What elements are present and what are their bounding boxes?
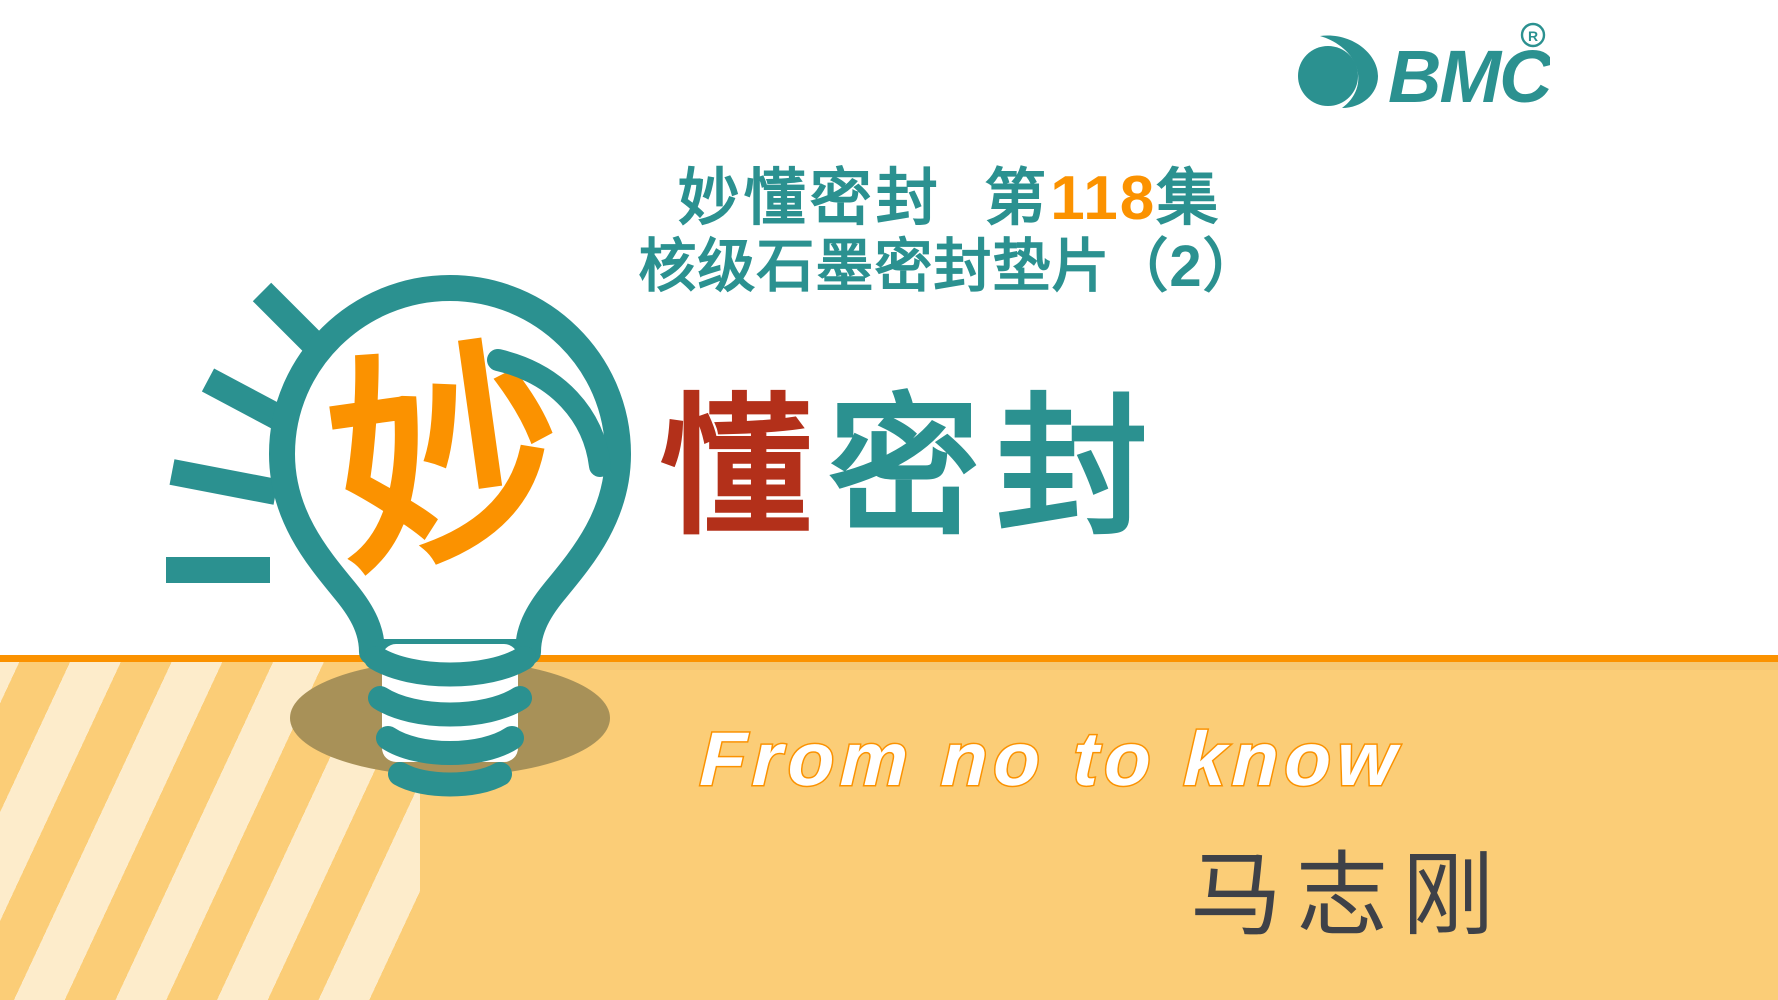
lightbulb-illustration: 妙 <box>150 240 730 820</box>
episode-number: 118 <box>1050 164 1156 233</box>
bmc-leaf-circle-icon <box>1298 36 1378 108</box>
episode-prefix: 第 <box>984 164 1050 233</box>
heading-line-1: 妙懂密封 第118集 <box>520 166 1380 231</box>
wordmark-char-3: 封 <box>996 383 1164 553</box>
svg-text:BMC: BMC <box>1388 35 1550 110</box>
big-wordmark: 懂密封 <box>660 392 1164 544</box>
episode-suffix: 集 <box>1156 164 1222 233</box>
svg-text:R: R <box>1528 28 1538 44</box>
series-title: 妙懂密封 <box>678 164 942 233</box>
bmc-logo: BMC R <box>1290 18 1550 110</box>
wordmark-char-2: 密 <box>828 383 996 553</box>
bmc-wordmark: BMC <box>1388 35 1550 110</box>
bulb-inner-character: 妙 <box>315 318 579 605</box>
slide-canvas: BMC R 妙懂密封 第118集 核级石墨密封垫片（2） 懂密封 From no… <box>0 0 1778 1000</box>
author-name: 马志刚 <box>1190 850 1508 942</box>
tagline: From no to know <box>698 716 1403 803</box>
